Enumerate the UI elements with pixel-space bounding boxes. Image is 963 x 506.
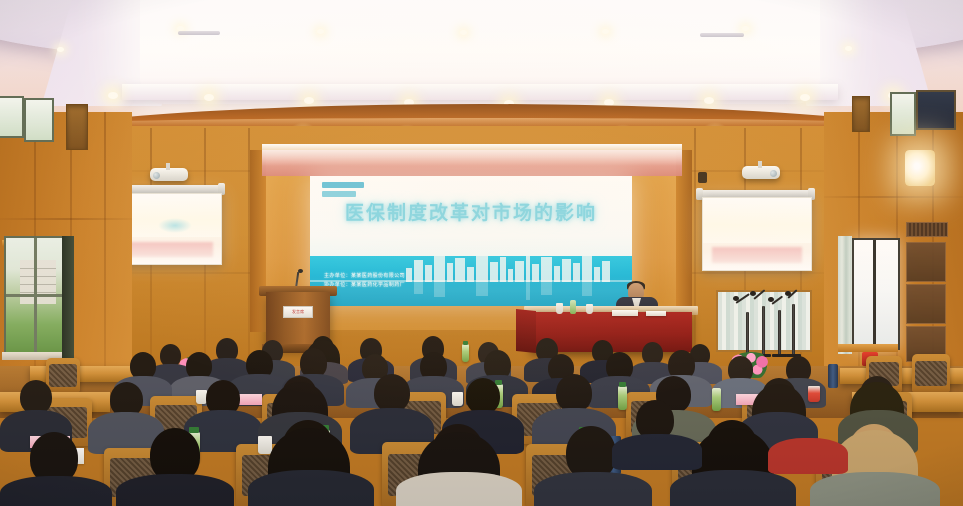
water-bottle xyxy=(618,386,627,410)
ceiling-downlight xyxy=(317,29,324,34)
projector-mount xyxy=(166,163,170,170)
microphone-stand xyxy=(778,310,781,356)
ceiling-downlight xyxy=(304,97,314,104)
paper-cup xyxy=(808,386,820,402)
acoustic-panel xyxy=(906,242,946,282)
microphone-head xyxy=(785,291,791,296)
slide-title: 医保制度改革对市场的影响 xyxy=(310,198,632,225)
ceiling-downlight xyxy=(602,29,609,34)
table-cup xyxy=(586,304,593,314)
microphone-head xyxy=(750,291,756,296)
wall-camera-icon xyxy=(698,172,707,183)
conference-hall-photo: 医保制度改革对市场的影响 xyxy=(0,0,963,506)
microphone-stand xyxy=(746,312,749,356)
speaker-papers xyxy=(612,310,638,316)
ceiling-downlight xyxy=(742,26,749,31)
microphone-base xyxy=(772,354,787,357)
microphone-head xyxy=(768,297,774,302)
wall-vent xyxy=(852,96,870,132)
handout-paper xyxy=(238,394,262,405)
ceiling-downlight xyxy=(460,30,467,35)
left-projection-screen xyxy=(118,193,222,265)
bottle-cap xyxy=(189,427,199,433)
ceiling-downlight xyxy=(108,92,118,99)
acoustic-grille xyxy=(906,222,948,237)
window-curtain xyxy=(838,236,852,354)
wall-panel-seam xyxy=(694,128,696,368)
wall-vent xyxy=(66,104,88,150)
ceiling-downlight xyxy=(57,47,64,52)
paper-cup xyxy=(452,392,463,406)
window-sill xyxy=(838,344,898,352)
slide-subtitle-line: 协办单位：某某医药化学品制药厂 xyxy=(324,281,484,290)
microphone-stand xyxy=(792,304,795,356)
chair xyxy=(912,354,950,392)
window-reveal xyxy=(62,236,74,360)
podium-plaque: 发言席 xyxy=(283,306,313,318)
ceiling-air-duct xyxy=(178,31,220,35)
microphone-head xyxy=(733,296,739,301)
stage-right-jamb xyxy=(676,150,692,332)
water-bottle xyxy=(712,388,721,411)
microphone-stand xyxy=(762,306,765,356)
speaker-papers xyxy=(646,311,666,316)
right-window xyxy=(852,238,900,350)
stage-left-jamb xyxy=(250,150,266,332)
table-cup xyxy=(556,303,563,314)
wall-panel-seam xyxy=(0,218,132,220)
acoustic-panel xyxy=(906,284,946,324)
banner-highlight xyxy=(262,144,682,166)
ceiling-downlight xyxy=(704,97,714,104)
projector-mount xyxy=(758,161,762,168)
ceiling-air-duct xyxy=(700,33,744,37)
wall-sconce-light xyxy=(905,150,935,186)
clerestory-window xyxy=(24,98,54,142)
thermos xyxy=(828,364,838,388)
slide-subtitle: 主办单位：某某医药股份有限公司 协办单位：某某医药化学品制药厂 xyxy=(324,272,484,290)
ceiling-downlight xyxy=(845,46,852,51)
table-bottle xyxy=(570,300,576,314)
ceiling-downlight xyxy=(204,94,214,101)
ceiling-downlight xyxy=(800,94,810,101)
paper-cup xyxy=(258,436,272,454)
water-bottle xyxy=(462,344,469,362)
wall-panel-seam xyxy=(824,196,963,198)
bottle-cap xyxy=(463,341,468,345)
podium-microphone-head xyxy=(298,269,303,273)
clerestory-window xyxy=(890,92,916,136)
bottle-cap xyxy=(619,382,626,387)
ceiling-panel-bevel xyxy=(122,84,838,100)
main-projection-screen: 医保制度改革对市场的影响 xyxy=(310,176,632,306)
left-window xyxy=(4,236,66,360)
slide-subtitle-line: 主办单位：某某医药股份有限公司 xyxy=(324,272,484,281)
chair xyxy=(46,358,80,392)
head-table-drape-side xyxy=(516,309,536,353)
clerestory-window xyxy=(0,96,24,138)
right-projection-screen xyxy=(702,197,812,271)
clerestory-window-dark xyxy=(916,90,956,130)
